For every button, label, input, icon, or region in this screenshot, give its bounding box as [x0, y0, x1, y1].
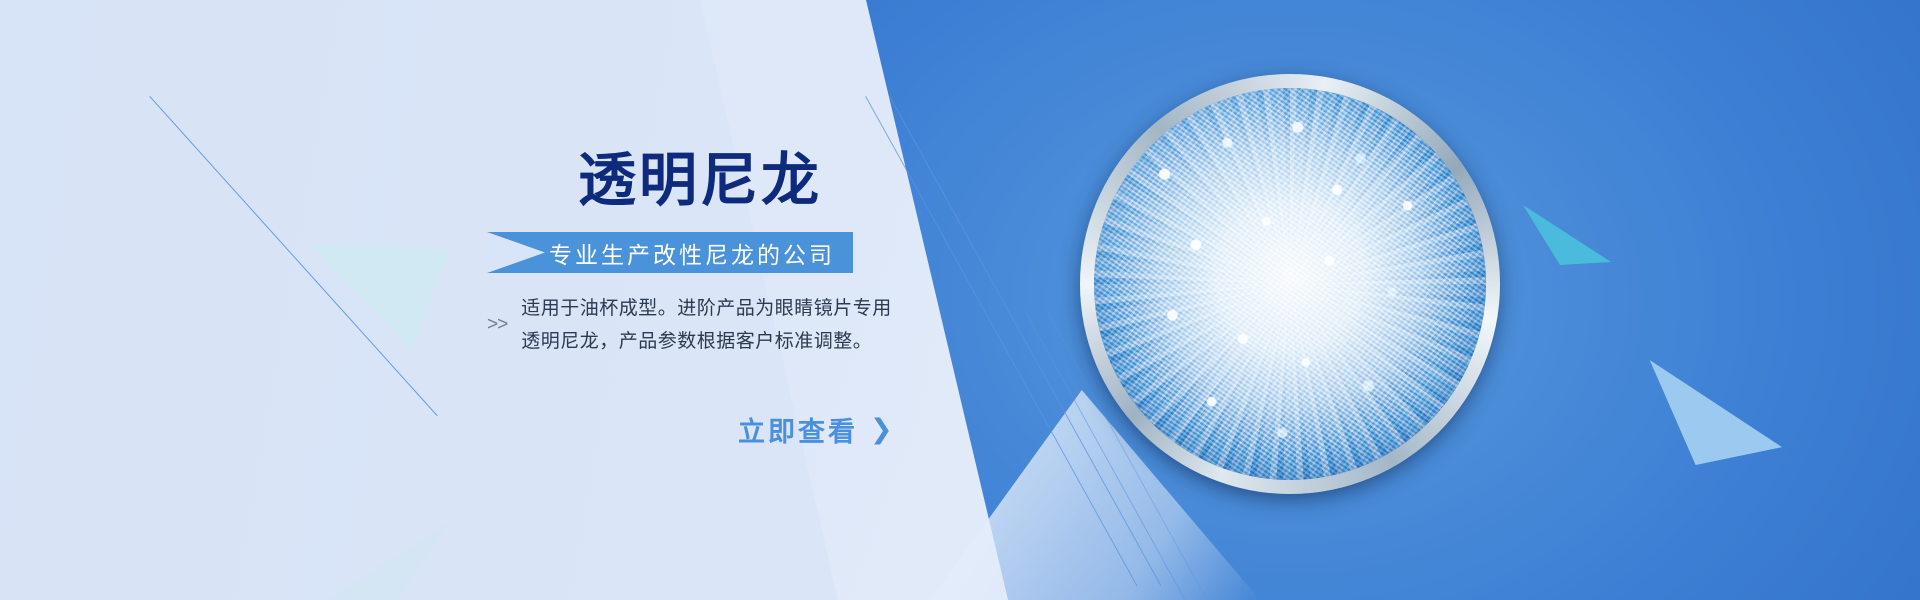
- dish-interior: [1094, 88, 1486, 480]
- hero-banner: 透明尼龙 专业生产改性尼龙的公司 >> 适用于油杯成型。进阶产品为眼睛镜片专用 …: [0, 0, 1920, 600]
- view-now-button[interactable]: 立即查看 ❯: [738, 410, 896, 449]
- view-now-label: 立即查看: [738, 410, 858, 449]
- chevron-right-icon: ❯: [870, 416, 896, 443]
- page-title: 透明尼龙: [578, 152, 822, 210]
- nylon-pellets-texture: [1094, 88, 1486, 480]
- tagline-ribbon: 专业生产改性尼龙的公司: [487, 232, 853, 273]
- double-chevron-icon: >>: [487, 314, 507, 336]
- description-text: 适用于油杯成型。进阶产品为眼睛镜片专用 透明尼龙，产品参数根据客户标准调整。: [521, 292, 892, 359]
- tagline-ribbon-label: 专业生产改性尼龙的公司: [549, 236, 835, 270]
- description-block: >> 适用于油杯成型。进阶产品为眼睛镜片专用 透明尼龙，产品参数根据客户标准调整…: [487, 292, 892, 359]
- product-image-petri-dish: [1080, 74, 1500, 494]
